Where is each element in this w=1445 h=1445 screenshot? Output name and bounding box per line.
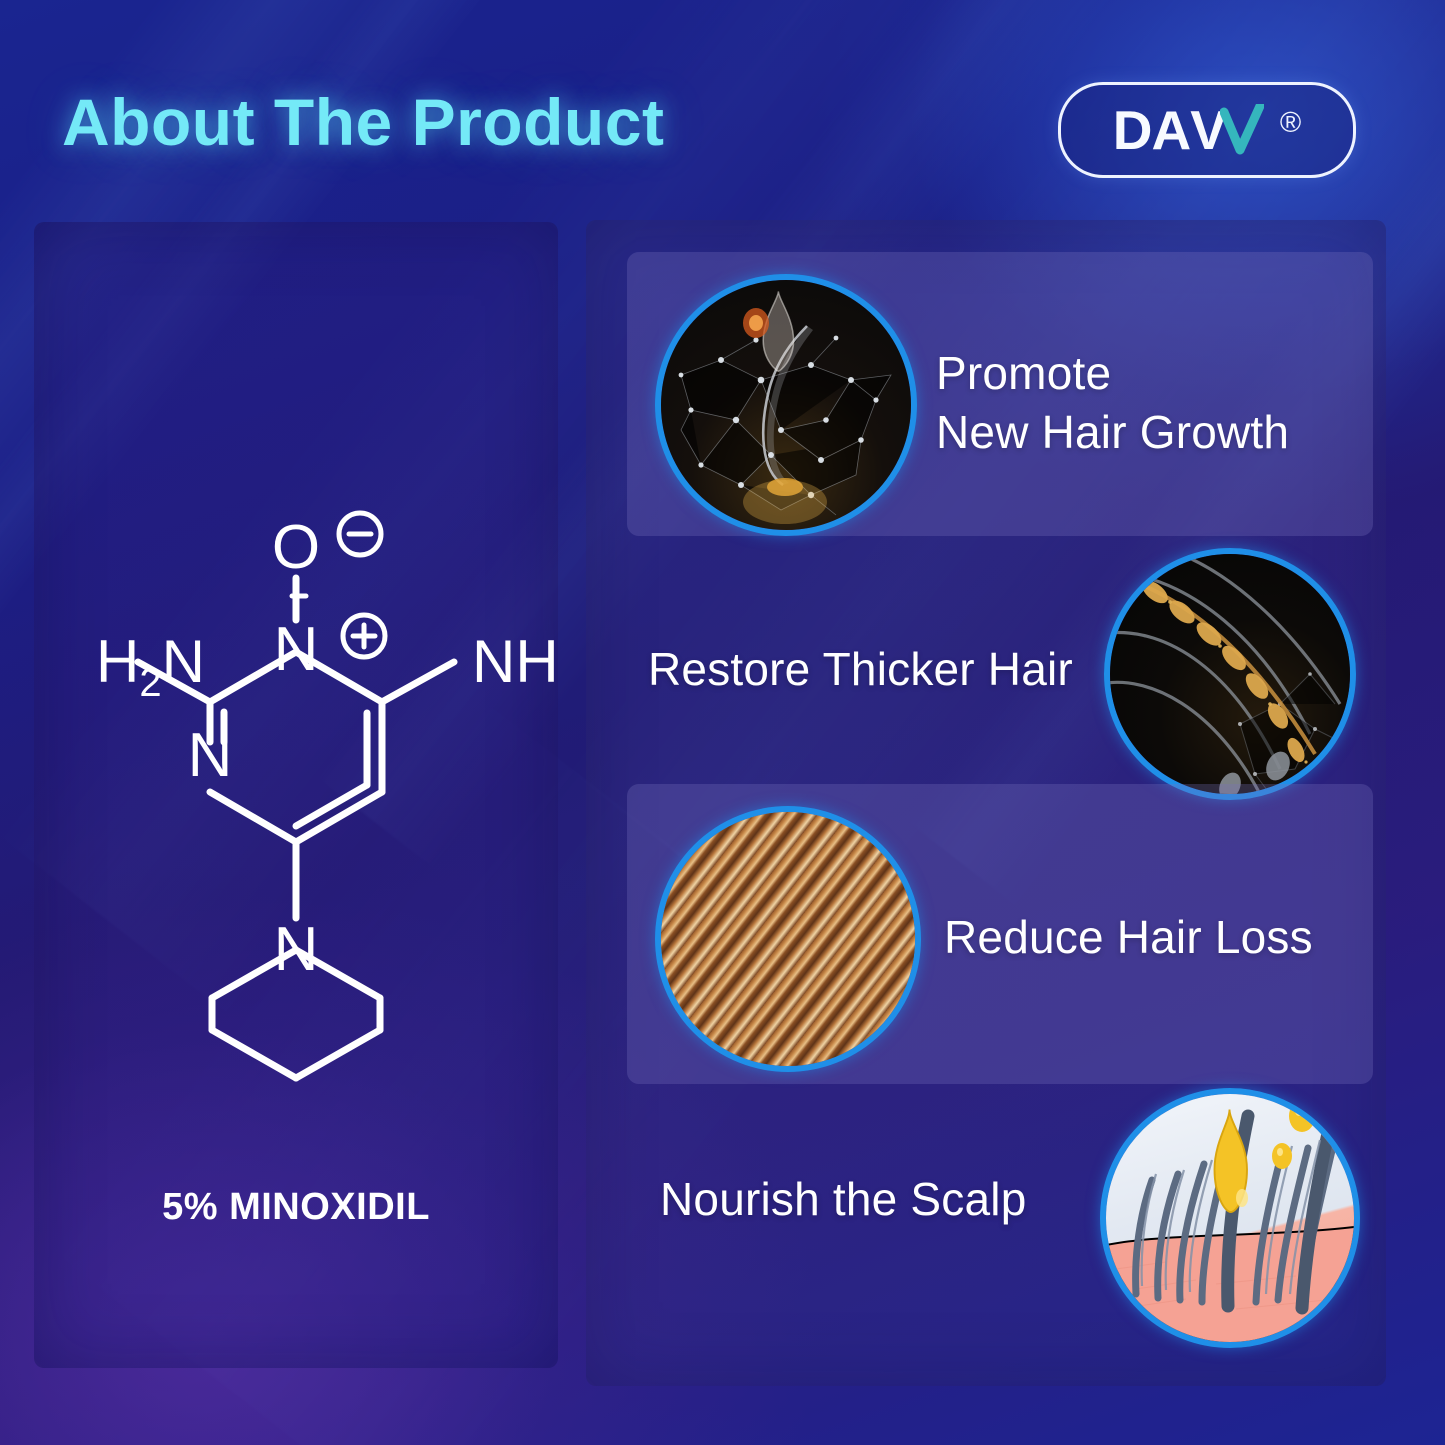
benefit-label-reduce-hair-loss: Reduce Hair Loss [944, 908, 1344, 967]
benefit-label-line1: Reduce Hair Loss [944, 908, 1344, 967]
healthy-hair-texture-icon [655, 806, 921, 1072]
atom-label-ring-nitrogen: N [188, 721, 233, 790]
benefit-label-nourish-the-scalp: Nourish the Scalp [660, 1170, 1080, 1229]
minoxidil-molecule-diagram: O N N N H2N NH2 [34, 470, 558, 1090]
benefit-label-promote-new-hair-growth: Promote New Hair Growth [936, 344, 1356, 462]
benefit-label-line1: Restore Thicker Hair [648, 640, 1088, 699]
infographic-root: About The Product DA V ® [0, 0, 1445, 1445]
product-concentration-label: 5% MINOXIDIL [34, 1186, 558, 1229]
benefit-label-restore-thicker-hair: Restore Thicker Hair [648, 640, 1088, 699]
thick-hair-strands-icon [1104, 548, 1356, 800]
registered-trademark-icon: ® [1280, 107, 1301, 140]
logo-wordmark: DA V [1113, 103, 1264, 158]
atom-label-piperidine-nitrogen: N [274, 915, 319, 984]
brand-logo: DA V ® [1058, 82, 1356, 178]
benefit-label-line1: Nourish the Scalp [660, 1170, 1080, 1229]
atom-label-amine-left: H2N [96, 628, 205, 705]
scalp-cross-section-icon [1100, 1088, 1360, 1348]
benefit-label-line2: New Hair Growth [936, 403, 1356, 462]
atom-label-nitrogen-plus: N [274, 615, 319, 684]
logo-text-da: DA [1113, 103, 1190, 158]
hair-follicle-network-icon [655, 274, 917, 536]
checkmark-icon [1220, 104, 1264, 156]
page-title: About The Product [62, 84, 664, 160]
atom-label-oxygen: O [272, 513, 320, 582]
atom-label-amine-right: NH2 [472, 628, 558, 705]
benefit-label-line1: Promote [936, 344, 1356, 403]
